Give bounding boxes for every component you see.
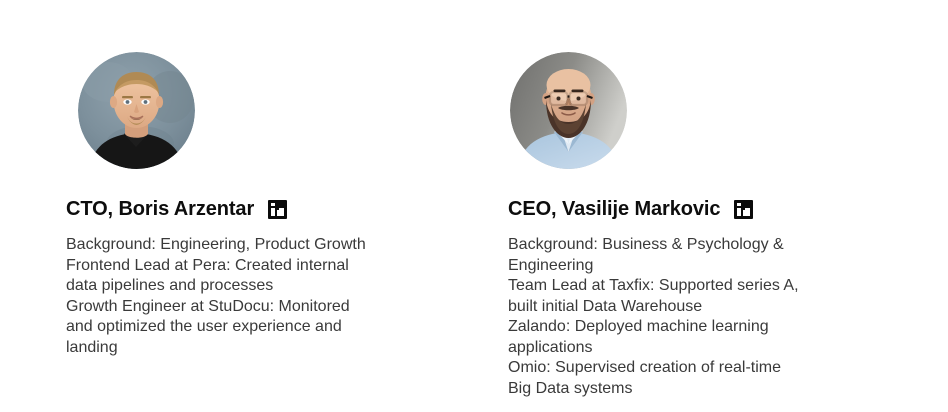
name-row: CEO, Vasilije Markovic xyxy=(508,196,753,222)
profile-card-ceo: CEO, Vasilije Markovic Background: Busin… xyxy=(508,0,928,169)
linkedin-icon-bar xyxy=(737,208,740,216)
bio-line: Team Lead at Taxfix: Supported series A, xyxy=(508,276,868,297)
bio-line: Zalando: Deployed machine learning xyxy=(508,317,868,338)
linkedin-icon-notch xyxy=(277,208,280,210)
bio-line: built initial Data Warehouse xyxy=(508,297,868,318)
avatar-photo-boris-arzentar xyxy=(78,52,195,169)
person-name: CEO, Vasilije Markovic xyxy=(508,196,720,222)
linkedin-icon-dot xyxy=(271,203,274,206)
profile-bio: Background: Engineering, Product Growth … xyxy=(66,235,416,358)
linkedin-icon[interactable] xyxy=(734,200,753,219)
bio-line: Omio: Supervised creation of real-time xyxy=(508,358,868,379)
team-profiles-section: CTO, Boris Arzentar Background: Engineer… xyxy=(0,0,948,412)
bio-line: Engineering xyxy=(508,256,868,277)
avatar xyxy=(78,52,195,169)
profile-card-cto: CTO, Boris Arzentar Background: Engineer… xyxy=(66,0,486,169)
bio-line: Big Data systems xyxy=(508,379,868,400)
name-row: CTO, Boris Arzentar xyxy=(66,196,287,222)
profile-bio: Background: Business & Psychology & Engi… xyxy=(508,235,868,399)
avatar-photo-vasilije-markovic xyxy=(510,52,627,169)
linkedin-icon[interactable] xyxy=(268,200,287,219)
bio-line: Growth Engineer at StuDocu: Monitored xyxy=(66,297,416,318)
person-name: CTO, Boris Arzentar xyxy=(66,196,254,222)
bio-line: Background: Engineering, Product Growth xyxy=(66,235,416,256)
bio-line: Background: Business & Psychology & xyxy=(508,235,868,256)
bio-line: data pipelines and processes xyxy=(66,276,416,297)
bio-line: and optimized the user experience and xyxy=(66,317,416,338)
linkedin-icon-notch xyxy=(743,208,746,210)
linkedin-icon-bar xyxy=(271,208,274,216)
bio-line: landing xyxy=(66,338,416,359)
bio-line: Frontend Lead at Pera: Created internal xyxy=(66,256,416,277)
linkedin-icon-dot xyxy=(737,203,740,206)
avatar xyxy=(510,52,627,169)
bio-line: applications xyxy=(508,338,868,359)
